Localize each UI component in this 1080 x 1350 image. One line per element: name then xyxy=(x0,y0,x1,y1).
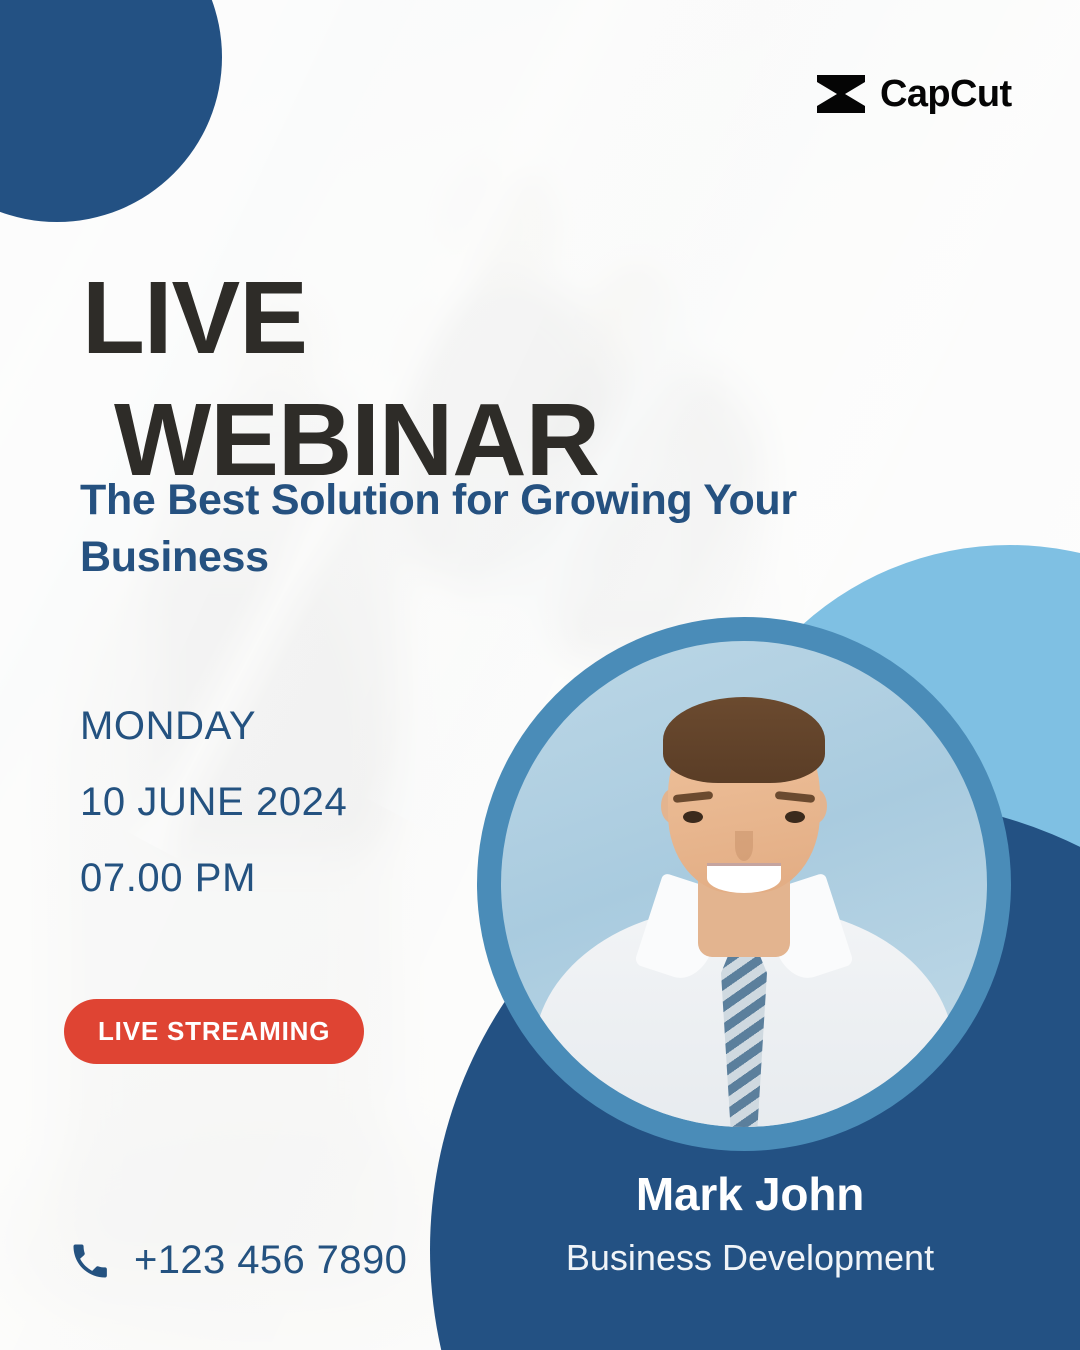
portrait-eye-left xyxy=(683,811,703,823)
title-line-1: LIVE xyxy=(82,260,307,375)
speaker-block: Mark John Business Development xyxy=(470,1168,1030,1278)
schedule-time: 07.00 PM xyxy=(80,858,347,898)
capcut-hourglass-icon xyxy=(815,72,867,116)
webinar-poster: CapCut LIVE WEBINAR The Best Solution fo… xyxy=(0,0,1080,1350)
portrait-hair xyxy=(663,697,825,783)
speaker-photo-ring xyxy=(477,617,1011,1151)
capcut-logo-text: CapCut xyxy=(880,75,1012,113)
schedule-day: MONDAY xyxy=(80,706,347,746)
page-title: LIVE WEBINAR xyxy=(82,257,599,500)
portrait-nose xyxy=(735,831,753,861)
subtitle: The Best Solution for Growing Your Busin… xyxy=(80,472,860,586)
avatar xyxy=(501,641,987,1127)
capcut-logo: CapCut xyxy=(815,72,1012,116)
portrait-eye-right xyxy=(785,811,805,823)
portrait-smile xyxy=(707,863,781,893)
speaker-role: Business Development xyxy=(470,1237,1030,1278)
phone-number: +123 456 7890 xyxy=(134,1238,407,1283)
contact-phone[interactable]: +123 456 7890 xyxy=(68,1238,407,1283)
speaker-name: Mark John xyxy=(470,1168,1030,1221)
schedule-date: 10 JUNE 2024 xyxy=(80,782,347,822)
schedule-block: MONDAY 10 JUNE 2024 07.00 PM xyxy=(80,706,347,934)
phone-icon xyxy=(68,1239,112,1283)
status-badge[interactable]: LIVE STREAMING xyxy=(64,999,364,1064)
